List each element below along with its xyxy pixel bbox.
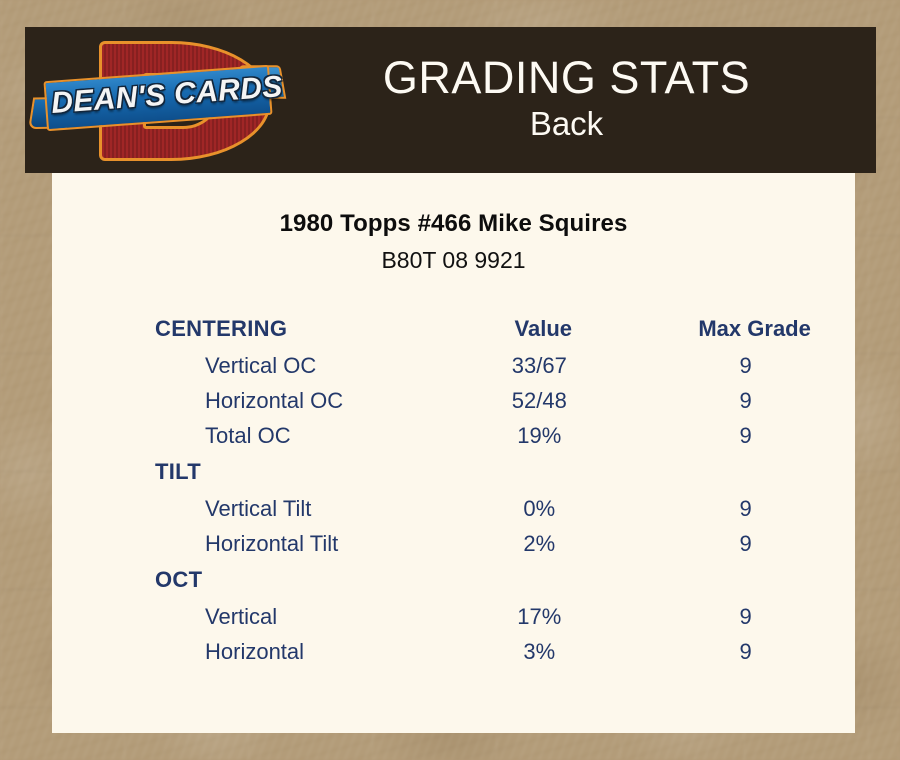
content-panel: 1980 Topps #466 Mike Squires B80T 08 992… xyxy=(52,172,855,733)
stat-label: Vertical OC xyxy=(52,348,432,383)
column-header-max-grade: Max Grade xyxy=(654,310,855,348)
stat-value: 33/67 xyxy=(432,348,654,383)
table-row: Horizontal OC52/489 xyxy=(52,383,855,418)
section-spacer-value xyxy=(432,453,654,491)
stat-max-grade: 9 xyxy=(654,348,855,383)
table-row: Vertical17%9 xyxy=(52,599,855,634)
table-header-row: CENTERINGValueMax Grade xyxy=(52,310,855,348)
stat-label: Total OC xyxy=(52,418,432,453)
section-spacer-value xyxy=(432,561,654,599)
stat-label: Vertical Tilt xyxy=(52,491,432,526)
section-heading-0: CENTERING xyxy=(52,310,432,348)
section-row: TILT xyxy=(52,453,855,491)
card-code: B80T 08 9921 xyxy=(52,247,855,274)
logo-ribbon-icon: DEAN'S CARDS xyxy=(31,71,283,133)
stat-label: Horizontal OC xyxy=(52,383,432,418)
stat-max-grade: 9 xyxy=(654,491,855,526)
card-title: 1980 Topps #466 Mike Squires xyxy=(52,210,855,238)
header-titles: GRADING STATS Back xyxy=(287,55,876,144)
stat-value: 2% xyxy=(432,526,654,561)
table-row: Vertical OC33/679 xyxy=(52,348,855,383)
deans-cards-logo[interactable]: DEAN'S CARDS xyxy=(25,27,287,173)
stat-max-grade: 9 xyxy=(654,418,855,453)
stat-max-grade: 9 xyxy=(654,526,855,561)
stat-value: 3% xyxy=(432,634,654,669)
table-row: Horizontal3%9 xyxy=(52,634,855,669)
table-row: Horizontal Tilt2%9 xyxy=(52,526,855,561)
stat-label: Horizontal xyxy=(52,634,432,669)
table-row: Vertical Tilt0%9 xyxy=(52,491,855,526)
section-row: OCT xyxy=(52,561,855,599)
stat-label: Horizontal Tilt xyxy=(52,526,432,561)
section-spacer-grade xyxy=(654,453,855,491)
stat-value: 52/48 xyxy=(432,383,654,418)
header-bar: DEAN'S CARDS GRADING STATS Back xyxy=(25,27,876,173)
section-heading-1: TILT xyxy=(52,453,432,491)
stat-label: Vertical xyxy=(52,599,432,634)
section-spacer-grade xyxy=(654,561,855,599)
stat-value: 17% xyxy=(432,599,654,634)
page-subtitle: Back xyxy=(287,103,846,144)
section-heading-2: OCT xyxy=(52,561,432,599)
stat-value: 19% xyxy=(432,418,654,453)
stat-max-grade: 9 xyxy=(654,599,855,634)
grading-stats-table: CENTERINGValueMax GradeVertical OC33/679… xyxy=(52,310,855,669)
column-header-value: Value xyxy=(432,310,654,348)
stat-value: 0% xyxy=(432,491,654,526)
page-title: GRADING STATS xyxy=(287,55,846,101)
stat-max-grade: 9 xyxy=(654,383,855,418)
table-row: Total OC19%9 xyxy=(52,418,855,453)
stat-max-grade: 9 xyxy=(654,634,855,669)
